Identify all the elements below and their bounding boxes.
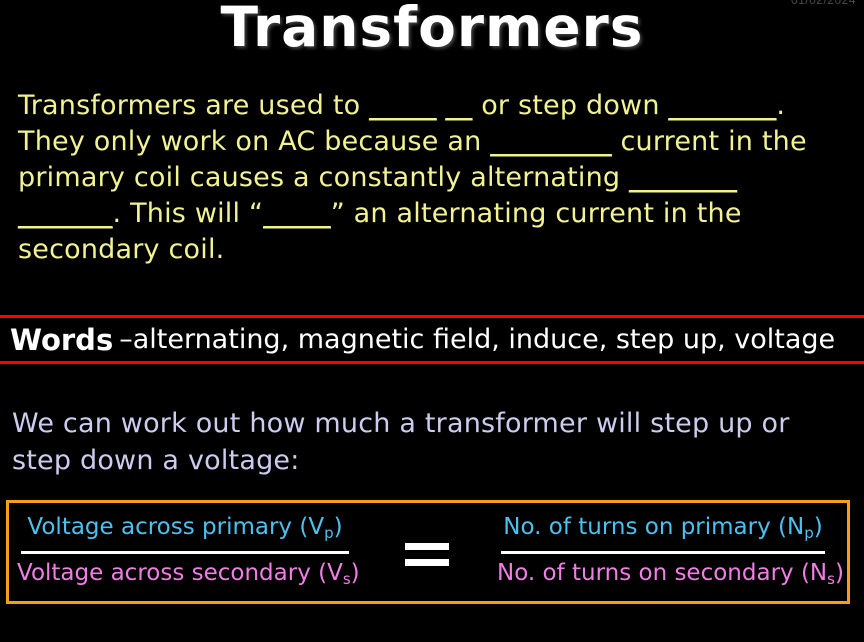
cloze-paragraph: Transformers are used to _____ __ or ste… [18,88,846,268]
word-bank-list: alternating, magnetic field, induce, ste… [133,324,835,355]
voltage-secondary-subscript: s [343,570,351,588]
fraction-bar-left [21,551,349,554]
cloze-text-segment: or step down [472,90,668,121]
word-bank-label: Words [10,323,113,357]
turns-secondary-denominator: No. of turns on secondary (Ns) [497,557,829,595]
formula-box: Voltage across primary (Vp) Voltage acro… [6,500,850,604]
cloze-text-segment: Transformers are used to [18,90,369,121]
voltage-secondary-denominator: Voltage across secondary (Vs) [17,557,353,595]
explanation-paragraph: We can work out how much a transformer w… [12,405,842,479]
voltage-primary-subscript: p [324,524,334,542]
turns-ratio-fraction: No. of turns on primary (Np) No. of turn… [497,511,829,595]
turns-secondary-subscript: s [827,570,835,588]
cloze-blank: _____ [369,90,437,121]
cloze-blank: _________ [490,126,612,157]
cloze-blank: _______ [18,198,113,229]
cloze-blank: ________ [629,162,737,193]
cloze-blank: __ [445,90,472,121]
page-title: Transformers [0,0,864,60]
fraction-bar-right [501,551,825,554]
voltage-secondary-text: Voltage across secondary (V [17,560,343,586]
cloze-blank: ________ [668,90,776,121]
voltage-primary-numerator: Voltage across primary (Vp) [17,511,353,549]
voltage-secondary-suffix: ) [351,560,360,586]
turns-secondary-suffix: ) [835,560,844,586]
turns-primary-suffix: ) [814,514,823,540]
voltage-primary-suffix: ) [334,514,343,540]
turns-primary-text: No. of turns on primary (N [503,514,804,540]
voltage-ratio-fraction: Voltage across primary (Vp) Voltage acro… [17,511,353,595]
turns-primary-subscript: p [804,524,814,542]
equals-bar-upper [405,543,449,550]
voltage-primary-text: Voltage across primary (V [27,514,324,540]
equals-bar-lower [405,559,449,566]
turns-primary-numerator: No. of turns on primary (Np) [497,511,829,549]
cloze-blank: _____ [263,198,331,229]
equals-sign-icon [405,543,449,575]
word-bank-separator: – [119,324,133,355]
divider-rule-bottom [0,361,864,364]
word-bank: Words – alternating, magnetic field, ind… [10,318,858,361]
turns-secondary-text: No. of turns on secondary (N [497,560,827,586]
cloze-text-segment: . This will “ [113,198,264,229]
